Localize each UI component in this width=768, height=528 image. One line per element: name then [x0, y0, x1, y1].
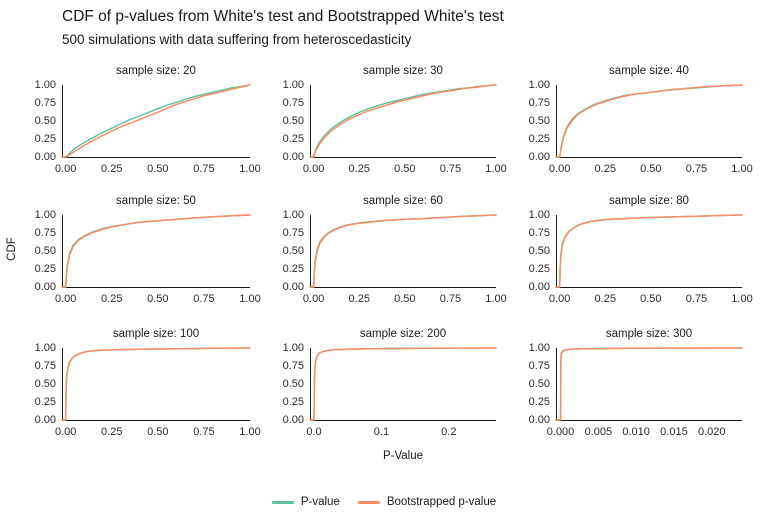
chart-legend: P-valueBootstrapped p-value — [0, 496, 768, 508]
legend-swatch-icon — [358, 501, 380, 504]
curve-layer — [62, 348, 250, 420]
y-tick-label: 0.00 — [260, 151, 304, 163]
y-tick-label: 0.75 — [506, 227, 550, 239]
series-line — [556, 85, 742, 157]
y-tick-label: 1.00 — [506, 209, 550, 221]
series-line — [310, 348, 496, 420]
y-tick-label: 1.00 — [12, 209, 56, 221]
y-tick-label: 0.50 — [12, 378, 56, 390]
x-axis-label: P-Value — [310, 450, 496, 462]
x-tick-label: 0.25 — [349, 163, 370, 175]
x-tick-label: 0.1 — [374, 426, 389, 438]
x-tick-label: 0.75 — [440, 163, 461, 175]
x-tick-label: 0.010 — [622, 426, 650, 438]
x-tick-label: 0.00 — [549, 293, 570, 305]
y-tick-label: 0.25 — [506, 133, 550, 145]
y-tick-label: 0.00 — [12, 414, 56, 426]
y-tick-label: 0.75 — [12, 97, 56, 109]
x-axis-line — [556, 420, 742, 421]
y-tick-label: 0.75 — [506, 97, 550, 109]
y-tick-label: 1.00 — [260, 342, 304, 354]
y-tick-label: 1.00 — [260, 79, 304, 91]
series-line — [62, 215, 250, 287]
legend-item[interactable]: P-value — [272, 496, 340, 508]
plot-area: 0.000.250.500.751.000.000.250.500.751.00 — [62, 85, 250, 157]
y-tick-label: 1.00 — [260, 209, 304, 221]
y-tick-label: 0.50 — [506, 245, 550, 257]
y-tick-label: 0.00 — [506, 281, 550, 293]
facet-panel-title: sample size: 40 — [556, 65, 742, 77]
series-line — [310, 348, 496, 420]
curve-layer — [310, 348, 496, 420]
series-line — [62, 85, 250, 157]
plot-area: 0.000.250.500.751.000.000.250.500.751.00 — [62, 215, 250, 287]
x-tick-label: 0.50 — [147, 426, 168, 438]
legend-swatch-icon — [272, 501, 294, 504]
series-line — [62, 215, 250, 287]
x-axis-line — [62, 420, 250, 421]
x-tick-label: 0.020 — [698, 426, 726, 438]
x-axis-line — [62, 157, 250, 158]
x-tick-label: 0.50 — [640, 163, 661, 175]
x-tick-label: 0.75 — [193, 163, 214, 175]
x-tick-label: 0.50 — [640, 293, 661, 305]
y-tick-label: 0.25 — [260, 396, 304, 408]
y-tick-label: 0.25 — [260, 263, 304, 275]
x-tick-label: 0.25 — [101, 426, 122, 438]
y-tick-label: 1.00 — [506, 79, 550, 91]
y-tick-label: 1.00 — [506, 342, 550, 354]
x-tick-label: 0.0 — [306, 426, 321, 438]
series-line — [556, 348, 742, 420]
curve-layer — [310, 85, 496, 157]
x-tick-label: 0.015 — [660, 426, 688, 438]
x-tick-label: 0.00 — [55, 163, 76, 175]
facet-panel-title: sample size: 20 — [62, 65, 250, 77]
x-tick-label: 1.00 — [239, 426, 260, 438]
chart-subtitle: 500 simulations with data suffering from… — [62, 32, 411, 47]
x-tick-label: 0.25 — [101, 163, 122, 175]
x-tick-label: 0.50 — [394, 293, 415, 305]
series-line — [62, 85, 250, 157]
series-line — [310, 215, 496, 287]
x-tick-label: 0.75 — [193, 293, 214, 305]
facet-panel-title: sample size: 200 — [310, 328, 496, 340]
plot-area: 0.000.250.500.751.000.000.250.500.751.00 — [556, 85, 742, 157]
facet-panel-title: sample size: 30 — [310, 65, 496, 77]
curve-layer — [310, 215, 496, 287]
x-tick-label: 0.50 — [394, 163, 415, 175]
series-line — [62, 348, 250, 420]
plot-area: 0.000.250.500.751.000.000.250.500.751.00 — [310, 85, 496, 157]
y-tick-label: 0.75 — [506, 360, 550, 372]
y-tick-label: 0.25 — [260, 133, 304, 145]
y-tick-label: 0.25 — [12, 133, 56, 145]
y-tick-label: 0.50 — [260, 378, 304, 390]
curve-layer — [556, 348, 742, 420]
legend-label: P-value — [301, 496, 340, 508]
x-tick-label: 0.75 — [686, 293, 707, 305]
series-line — [310, 215, 496, 287]
legend-label: Bootstrapped p-value — [387, 496, 496, 508]
x-tick-label: 0.000 — [547, 426, 575, 438]
x-axis-line — [62, 287, 250, 288]
y-tick-label: 0.75 — [12, 227, 56, 239]
legend-item[interactable]: Bootstrapped p-value — [358, 496, 496, 508]
series-line — [556, 348, 742, 420]
y-tick-label: 0.50 — [12, 245, 56, 257]
x-tick-label: 0.00 — [303, 163, 324, 175]
facet-panel-title: sample size: 80 — [556, 195, 742, 207]
x-tick-label: 0.00 — [303, 293, 324, 305]
y-tick-label: 0.50 — [12, 115, 56, 127]
facet-panel-title: sample size: 50 — [62, 195, 250, 207]
x-tick-label: 0.25 — [349, 293, 370, 305]
chart-root: CDF of p-values from White's test and Bo… — [0, 0, 768, 528]
y-tick-label: 1.00 — [12, 342, 56, 354]
x-tick-label: 1.00 — [731, 163, 752, 175]
y-tick-label: 0.00 — [260, 414, 304, 426]
x-tick-label: 0.00 — [55, 293, 76, 305]
series-line — [556, 215, 742, 287]
x-tick-label: 0.00 — [549, 163, 570, 175]
y-tick-label: 0.75 — [260, 360, 304, 372]
plot-area: 0.000.250.500.751.000.000.250.500.751.00 — [310, 215, 496, 287]
plot-area: 0.000.250.500.751.000.000.250.500.751.00 — [556, 215, 742, 287]
x-tick-label: 0.75 — [686, 163, 707, 175]
x-tick-label: 0.75 — [440, 293, 461, 305]
y-tick-label: 0.50 — [506, 115, 550, 127]
facet-panel-title: sample size: 300 — [556, 328, 742, 340]
curve-layer — [556, 215, 742, 287]
y-tick-label: 0.75 — [260, 227, 304, 239]
chart-title: CDF of p-values from White's test and Bo… — [62, 8, 504, 26]
facet-panel-title: sample size: 60 — [310, 195, 496, 207]
series-line — [556, 85, 742, 157]
y-tick-label: 0.25 — [506, 263, 550, 275]
series-line — [310, 85, 496, 157]
x-axis-line — [310, 157, 496, 158]
plot-area: 0.000.250.500.751.000.0000.0050.0100.015… — [556, 348, 742, 420]
x-tick-label: 1.00 — [239, 293, 260, 305]
x-axis-line — [310, 287, 496, 288]
x-axis-line — [310, 420, 496, 421]
x-tick-label: 0.25 — [101, 293, 122, 305]
y-tick-label: 0.00 — [12, 151, 56, 163]
y-tick-label: 0.50 — [506, 378, 550, 390]
y-tick-label: 0.50 — [260, 245, 304, 257]
y-tick-label: 0.00 — [260, 281, 304, 293]
y-tick-label: 1.00 — [12, 79, 56, 91]
x-tick-label: 0.2 — [441, 426, 456, 438]
x-tick-label: 0.005 — [585, 426, 613, 438]
x-tick-label: 0.75 — [193, 426, 214, 438]
y-tick-label: 0.25 — [506, 396, 550, 408]
plot-area: 0.000.250.500.751.000.000.250.500.751.00 — [62, 348, 250, 420]
x-tick-label: 1.00 — [239, 163, 260, 175]
plot-area: 0.000.250.500.751.000.00.10.2 — [310, 348, 496, 420]
y-tick-label: 0.00 — [506, 414, 550, 426]
y-tick-label: 0.00 — [506, 151, 550, 163]
curve-layer — [556, 85, 742, 157]
y-tick-label: 0.25 — [12, 263, 56, 275]
x-tick-label: 0.25 — [595, 293, 616, 305]
curve-layer — [62, 85, 250, 157]
x-tick-label: 1.00 — [485, 293, 506, 305]
y-tick-label: 0.50 — [260, 115, 304, 127]
x-tick-label: 1.00 — [731, 293, 752, 305]
x-tick-label: 0.50 — [147, 163, 168, 175]
x-tick-label: 0.25 — [595, 163, 616, 175]
x-tick-label: 0.00 — [55, 426, 76, 438]
y-tick-label: 0.75 — [12, 360, 56, 372]
y-tick-label: 0.00 — [12, 281, 56, 293]
x-axis-line — [556, 287, 742, 288]
x-tick-label: 1.00 — [485, 163, 506, 175]
x-axis-line — [556, 157, 742, 158]
y-tick-label: 0.75 — [260, 97, 304, 109]
series-line — [310, 85, 496, 157]
series-line — [556, 215, 742, 287]
series-line — [62, 348, 250, 420]
x-tick-label: 0.50 — [147, 293, 168, 305]
facet-panel-title: sample size: 100 — [62, 328, 250, 340]
y-tick-label: 0.25 — [12, 396, 56, 408]
curve-layer — [62, 215, 250, 287]
